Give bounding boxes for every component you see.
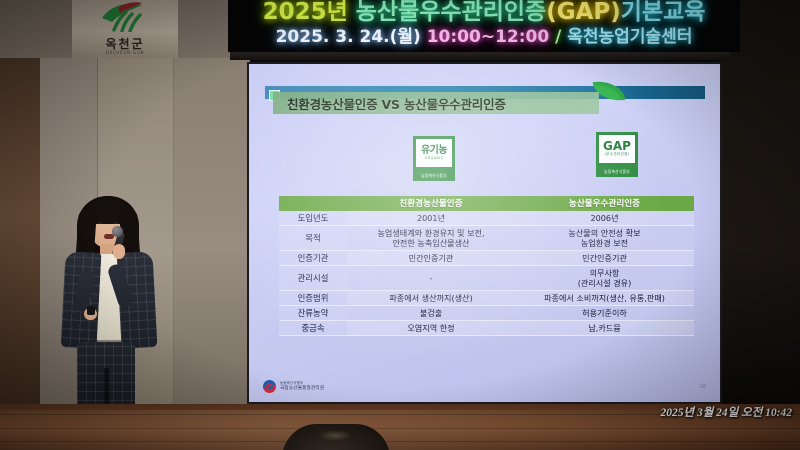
gap-badge: GAP (우수관리인증)	[596, 132, 638, 166]
cell-gap-scope: 파종에서 소비까지(생산, 유통,판매)	[515, 291, 694, 306]
table-row: 목적 농업생태계와 환경유지 및 보전, 안전한 농축임산물생산 농산물의 안전…	[279, 226, 694, 251]
gap-badge-sub: (우수관리인증)	[604, 152, 629, 157]
wall-panel-3	[174, 58, 250, 410]
organic-certification-logo: 유기농 ORGANIC 농림축산식품부	[412, 136, 456, 184]
table-header-blank	[279, 196, 347, 211]
table-row: 관리시설 - 의무사항 (관리시설 경유)	[279, 266, 694, 291]
cell-eco-scope: 파종에서 생산까지(생산)	[347, 291, 515, 306]
led-banner-line-2: 2025. 3. 24.(월) 10:00~12:00 / 옥천농업기술센터	[228, 26, 740, 48]
microphone-head-icon	[112, 226, 123, 237]
slide-title-box: 친환경농산물인증 VS 농산물우수관리인증	[273, 92, 599, 114]
cell-gap-purpose-line1: 농산물의 안전성 확보	[516, 228, 693, 238]
presenter-speaker	[55, 196, 167, 410]
floor-plank-line	[0, 441, 800, 442]
table-row: 도입년도 2001년 2006년	[279, 211, 694, 226]
table-row: 인증기관 민간인증기관 민간인증기관	[279, 251, 694, 266]
cell-gap-heavy-metal: 납,카드뮴	[515, 321, 694, 336]
row-label-scope: 인증범위	[279, 291, 347, 306]
row-label-cert-body: 인증기관	[279, 251, 347, 266]
cell-eco-pesticide: 불검출	[347, 306, 515, 321]
led-line2-place: 옥천농업기술센터	[567, 27, 692, 47]
camera-timestamp: 2025년 3월 24일 오전 10:42	[661, 404, 792, 420]
presenter-eye-right	[113, 222, 118, 224]
cell-gap-facility-line1: 의무사항	[516, 268, 693, 278]
page-title: 친환경농산물인증 VS 농산물우수관리인증	[287, 94, 506, 113]
led-line2-separator: /	[555, 27, 561, 47]
table-row: 잔류농약 불검출 허용기준이하	[279, 306, 694, 321]
row-label-facility: 관리시설	[279, 266, 347, 291]
floor-plank-line	[0, 428, 800, 429]
okcheon-gun-wall-sign: 옥천군 OKCHEON-GUN	[72, 0, 178, 58]
led-line1-gap: (GAP)	[546, 0, 621, 25]
cell-gap-pesticide: 허용기준이하	[515, 306, 694, 321]
cell-eco-facility: -	[347, 266, 515, 291]
cell-gap-purpose-line2: 농업환경 보전	[516, 238, 693, 248]
projection-screen: 친환경농산물인증 VS 농산물우수관리인증 유기농 ORGANIC 농림축산식품…	[249, 64, 720, 402]
table-row: 인증범위 파종에서 생산까지(생산) 파종에서 소비까지(생산, 유통,판매)	[279, 291, 694, 306]
cell-gap-facility-line2: (관리시설 경유)	[516, 278, 693, 288]
table-header-gap: 농산물우수관리인증	[515, 196, 694, 211]
okcheon-sign-name: 옥천군	[105, 38, 144, 50]
right-wall-dark	[720, 0, 800, 412]
row-label-purpose: 목적	[279, 226, 347, 251]
cell-gap-cert-body: 민간인증기관	[515, 251, 694, 266]
led-line1-subject: 농산물우수관리인증	[356, 0, 546, 25]
cell-eco-purpose: 농업생태계와 환경유지 및 보전, 안전한 농축임산물생산	[347, 226, 515, 251]
cell-eco-purpose-line1: 농업생태계와 환경유지 및 보전,	[348, 228, 514, 238]
slide-footer-text: 농림축산식품부 국립농산물품질관리원	[280, 381, 324, 392]
led-banner-line-1: 2025년 농산물우수관리인증(GAP)기본교육	[228, 0, 740, 26]
comparison-table: 친환경농산물인증 농산물우수관리인증 도입년도 2001년 2006년 목적 농…	[279, 196, 694, 336]
slide-footer: 농림축산식품부 국립농산물품질관리원	[263, 380, 324, 393]
led-line1-year: 2025년	[263, 0, 356, 25]
okcheon-sign-romanization: OKCHEON-GUN	[106, 50, 144, 56]
table-header-eco: 친환경농산물인증	[347, 196, 515, 211]
row-label-heavy-metal: 중금속	[279, 321, 347, 336]
row-label-intro-year: 도입년도	[279, 211, 347, 226]
cell-gap-intro-year: 2006년	[515, 211, 694, 226]
okcheon-gun-emblem-icon	[98, 2, 152, 32]
cell-eco-heavy-metal: 오염지역 한정	[347, 321, 515, 336]
gap-certification-logo: GAP (우수관리인증) 농림축산식품부	[595, 132, 639, 180]
led-line2-time: 10:00~12:00	[427, 27, 549, 47]
slide-footer-org-line2: 국립농산물품질관리원	[280, 386, 324, 392]
audience-head-highlight	[318, 430, 352, 441]
slide-page-number: 18	[700, 384, 706, 390]
row-label-pesticide: 잔류농약	[279, 306, 347, 321]
cell-eco-cert-body: 민간인증기관	[347, 251, 515, 266]
gap-badge-main: GAP	[603, 141, 631, 152]
cell-gap-facility: 의무사항 (관리시설 경유)	[515, 266, 694, 291]
cell-eco-intro-year: 2001년	[347, 211, 515, 226]
organic-badge-ministry: 농림축산식품부	[413, 170, 455, 181]
conference-room-photo: 옥천군 OKCHEON-GUN 2025년 농산물우수관리인증(GAP)기본교육…	[0, 0, 800, 450]
presenter-hand-right	[113, 244, 125, 259]
presenter-eye-left	[98, 222, 103, 224]
cell-eco-purpose-line2: 안전한 농축임산물생산	[348, 238, 514, 248]
led-banner: 2025년 농산물우수관리인증(GAP)기본교육 2025. 3. 24.(월)…	[228, 0, 740, 52]
cell-gap-purpose: 농산물의 안전성 확보 농업환경 보전	[515, 226, 694, 251]
table-header-row: 친환경농산물인증 농산물우수관리인증	[279, 196, 694, 211]
table-row: 중금속 오염지역 한정 납,카드뮴	[279, 321, 694, 336]
organic-badge-main: 유기농	[421, 145, 447, 156]
korea-government-taegeuk-icon	[263, 380, 276, 393]
led-line1-course: 기본교육	[621, 0, 706, 25]
led-line2-date: 2025. 3. 24.(월)	[276, 27, 421, 47]
organic-badge: 유기농 ORGANIC	[413, 136, 455, 170]
gap-badge-ministry: 농림축산식품부	[596, 166, 638, 177]
wall-panel-wood	[0, 58, 40, 410]
presentation-clicker	[87, 306, 95, 315]
organic-badge-sub: ORGANIC	[425, 156, 444, 161]
